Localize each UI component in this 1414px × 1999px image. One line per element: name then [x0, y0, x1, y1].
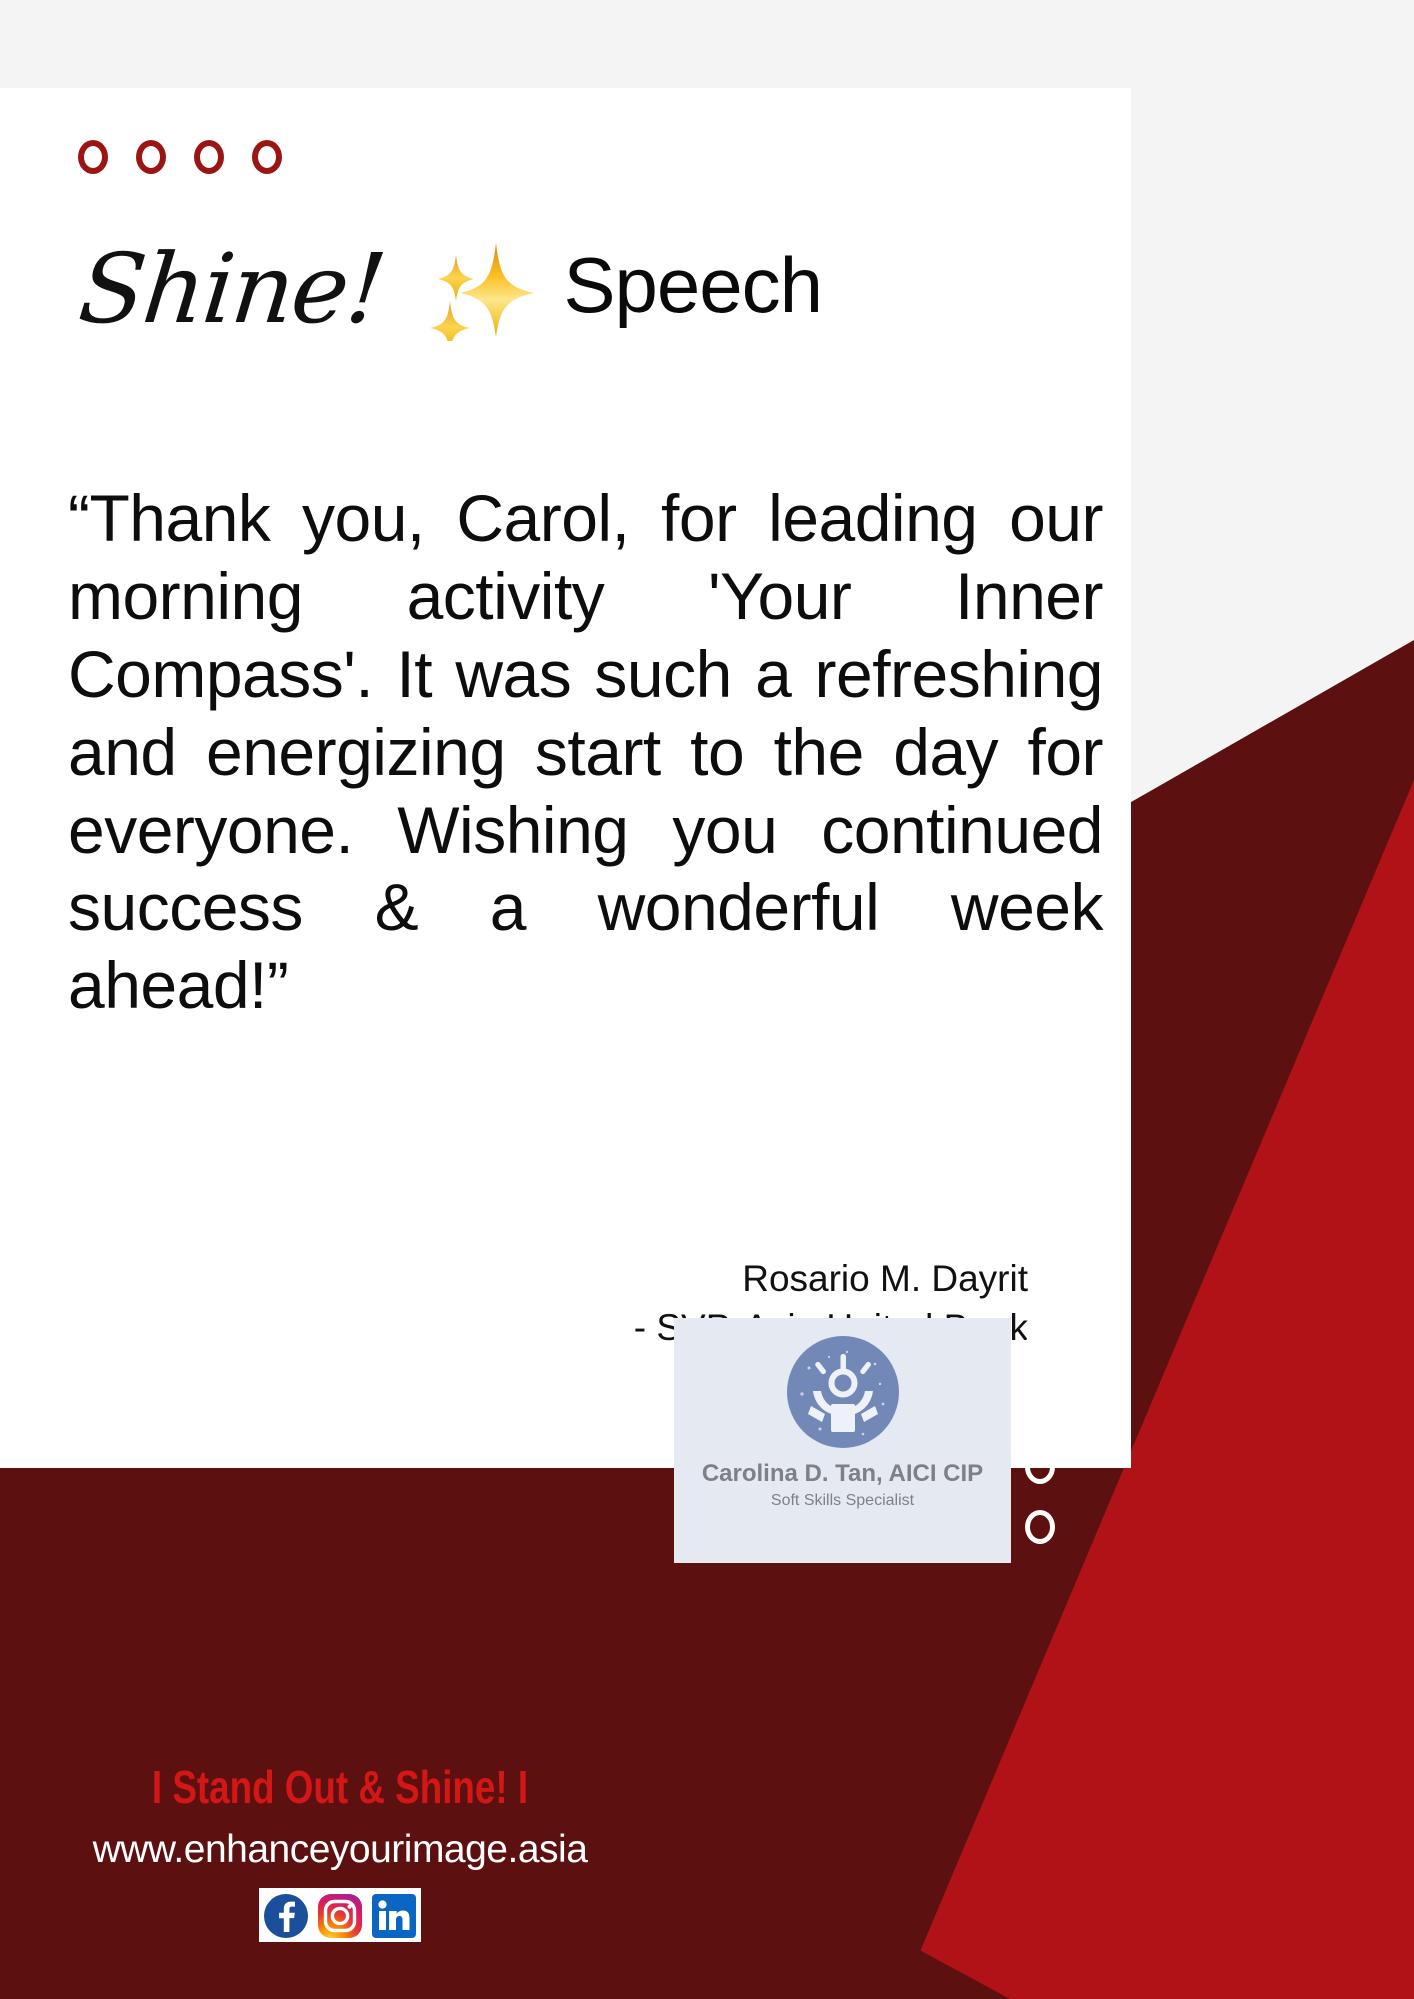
page-title: Shine!: [80, 215, 822, 355]
header-dot-icon: [194, 140, 224, 174]
sparkles-icon: [426, 237, 538, 346]
card-person-name: Carolina D. Tan, AICI CIP: [702, 1460, 983, 1488]
header-dot-icon: [252, 140, 282, 174]
header-dot-icon: [136, 140, 166, 174]
edge-dot-icon: [1025, 1510, 1055, 1544]
edge-dot-column: [1025, 1330, 1055, 1544]
attribution-name: Rosario M. Dayrit: [68, 1255, 1028, 1304]
header-dot-row: [78, 140, 282, 174]
facebook-icon[interactable]: [259, 1888, 313, 1942]
brand-tagline: I Stand Out & Shine! I: [116, 1760, 564, 1814]
linkedin-icon[interactable]: [367, 1888, 421, 1942]
business-card: Carolina D. Tan, AICI CIP Soft Skills Sp…: [674, 1318, 1011, 1563]
shining-person-logo-icon: [785, 1334, 901, 1450]
edge-dot-icon: [1025, 1450, 1055, 1484]
poster-canvas: Shine!: [0, 0, 1414, 1999]
card-person-role: Soft Skills Specialist: [771, 1492, 914, 1510]
brand-website[interactable]: www.enhanceyourimage.asia: [60, 1828, 620, 1872]
header-dot-icon: [78, 140, 108, 174]
edge-dot-icon: [1025, 1330, 1055, 1364]
title-word: Speech: [564, 246, 823, 324]
testimonial-quote: “Thank you, Carol, for leading our morni…: [68, 480, 1103, 1025]
instagram-icon[interactable]: [313, 1888, 367, 1942]
social-icon-row: [60, 1888, 620, 1942]
footer-brand-block: I Stand Out & Shine! I www.enhanceyourim…: [60, 1760, 620, 1942]
edge-dot-icon: [1025, 1390, 1055, 1424]
title-script-word: Shine!: [75, 241, 389, 337]
